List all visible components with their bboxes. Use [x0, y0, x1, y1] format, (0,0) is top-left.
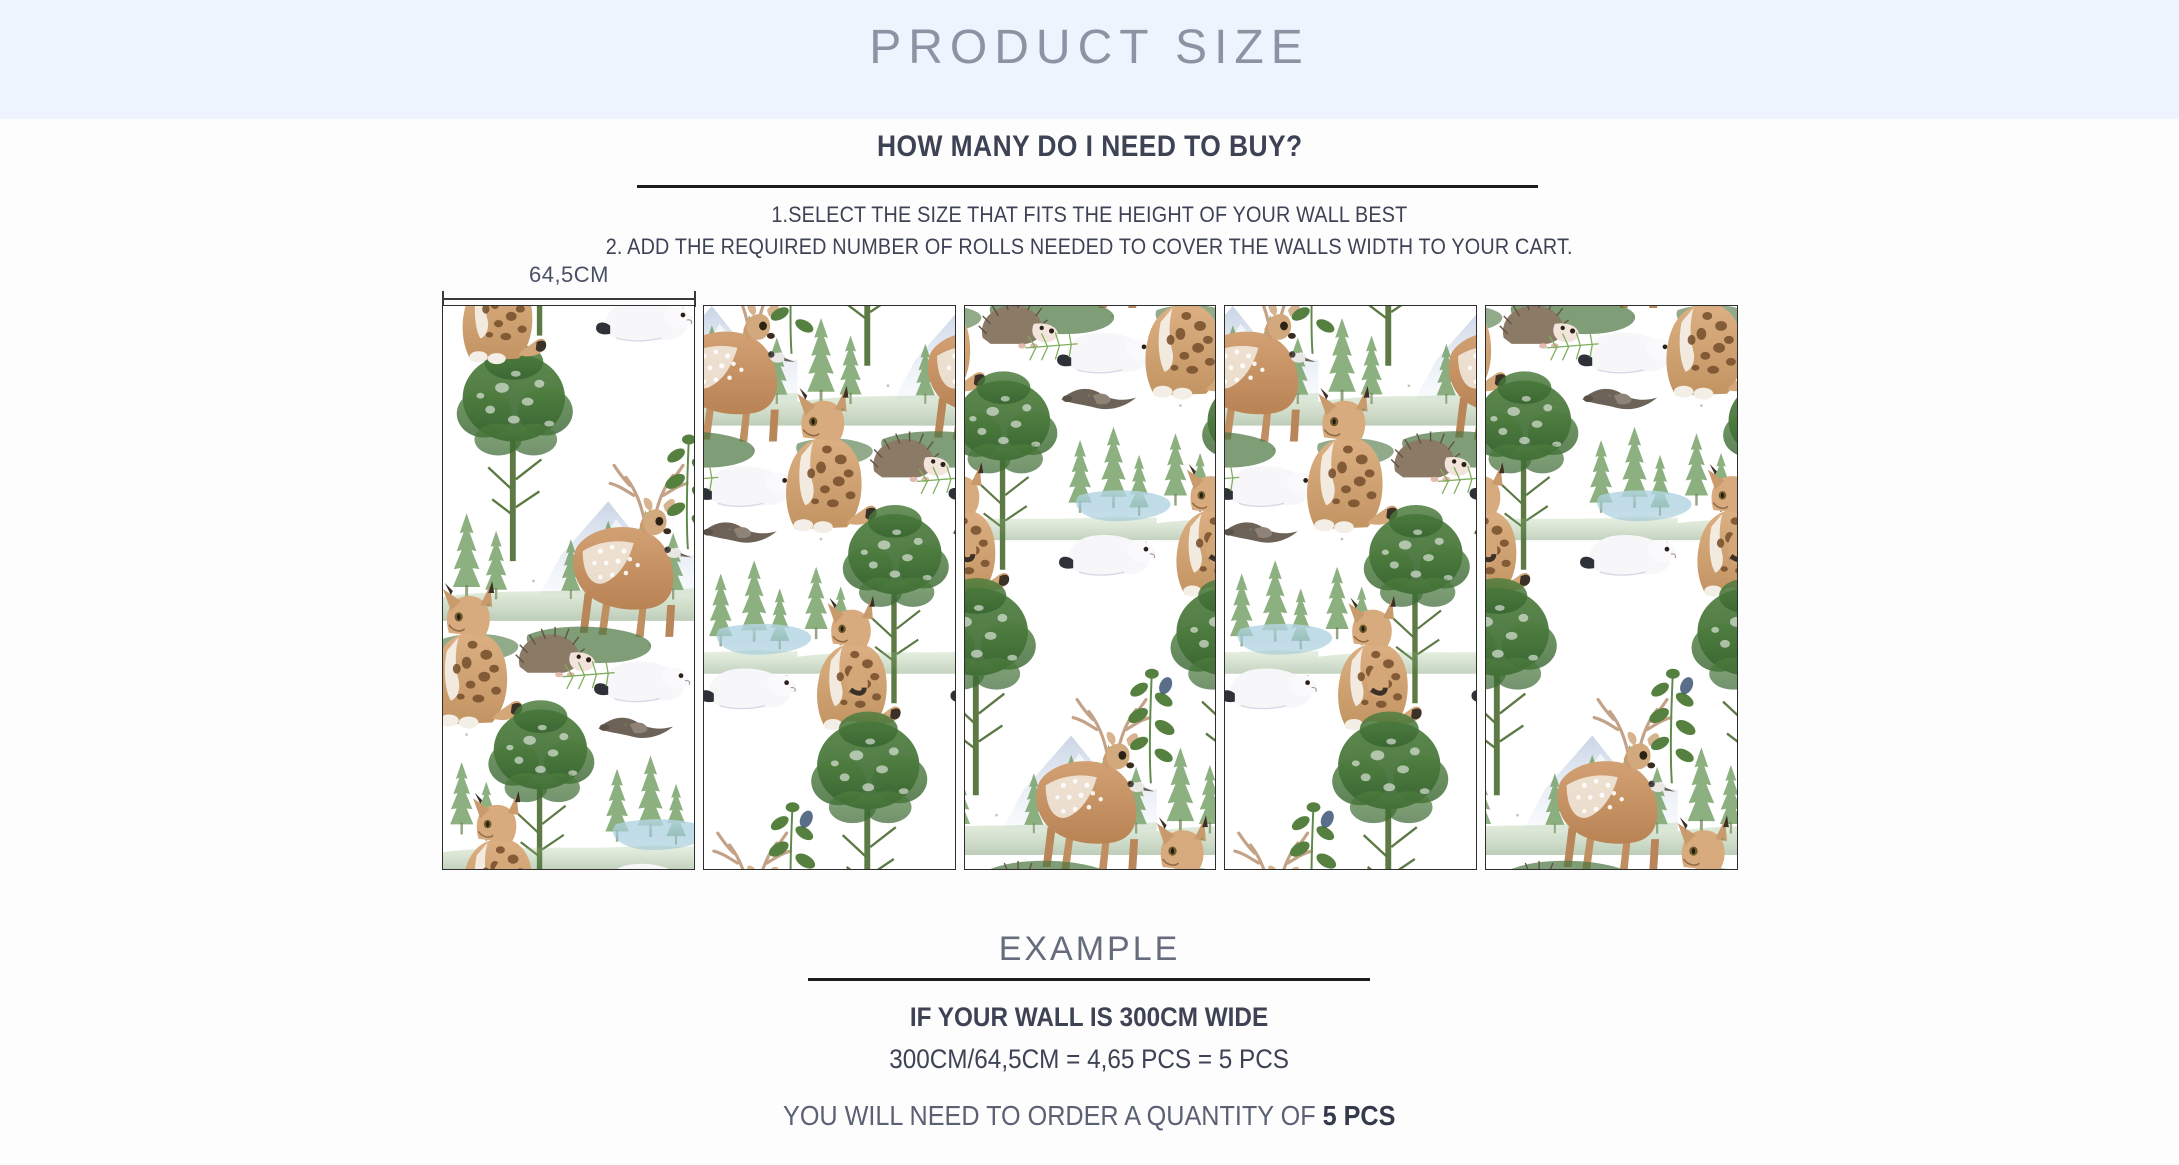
example-order-prefix: YOU WILL NEED TO ORDER A QUANTITY OF — [783, 1100, 1323, 1131]
instruction-step-2-text: 2. ADD THE REQUIRED NUMBER OF ROLLS NEED… — [606, 234, 1573, 260]
wallpaper-pattern-3 — [965, 306, 1216, 869]
wallpaper-panels-row — [442, 305, 1738, 870]
wallpaper-pattern-1 — [443, 306, 694, 869]
dimension-label: 64,5CM — [442, 262, 696, 288]
example-calculation-text: 300CM/64,5CM = 4,65 PCS = 5 PCS — [890, 1044, 1290, 1075]
instruction-step-2: 2. ADD THE REQUIRED NUMBER OF ROLLS NEED… — [0, 234, 2179, 260]
wallpaper-panel-2[interactable] — [703, 305, 956, 870]
instruction-step-1: 1.SELECT THE SIZE THAT FITS THE HEIGHT O… — [0, 202, 2179, 228]
example-section: EXAMPLE IF YOUR WALL IS 300CM WIDE 300CM… — [0, 930, 2179, 969]
example-order-quantity-wrap: YOU WILL NEED TO ORDER A QUANTITY OF 5 P… — [783, 1100, 1395, 1132]
wallpaper-panel-1[interactable] — [442, 305, 695, 870]
wallpaper-panel-4[interactable] — [1224, 305, 1477, 870]
instructions-divider — [637, 185, 1538, 188]
example-wall-width: IF YOUR WALL IS 300CM WIDE — [0, 1002, 2179, 1033]
wallpaper-pattern-5 — [1486, 306, 1737, 869]
example-title: EXAMPLE — [999, 930, 1181, 968]
wallpaper-pattern-2 — [704, 306, 955, 869]
example-title-wrap: EXAMPLE — [0, 930, 2179, 969]
wallpaper-panel-3[interactable] — [964, 305, 1217, 870]
wallpaper-pattern-4 — [1225, 306, 1476, 869]
dimension-line — [442, 298, 696, 300]
example-wall-width-text: IF YOUR WALL IS 300CM WIDE — [910, 1002, 1268, 1033]
example-calculation: 300CM/64,5CM = 4,65 PCS = 5 PCS — [0, 1044, 2179, 1075]
instruction-step-1-text: 1.SELECT THE SIZE THAT FITS THE HEIGHT O… — [771, 202, 1407, 228]
instructions-title: HOW MANY DO I NEED TO BUY? — [877, 130, 1303, 164]
example-order-quantity: YOU WILL NEED TO ORDER A QUANTITY OF 5 P… — [0, 1100, 2179, 1132]
instructions-section: HOW MANY DO I NEED TO BUY? 1.SELECT THE … — [0, 130, 2179, 164]
wallpaper-panel-5[interactable] — [1485, 305, 1738, 870]
example-order-quantity-value: 5 PCS — [1323, 1100, 1396, 1131]
instructions-title-wrap: HOW MANY DO I NEED TO BUY? — [0, 130, 2179, 164]
page-title: PRODUCT SIZE — [0, 20, 2179, 75]
example-divider — [808, 978, 1370, 981]
